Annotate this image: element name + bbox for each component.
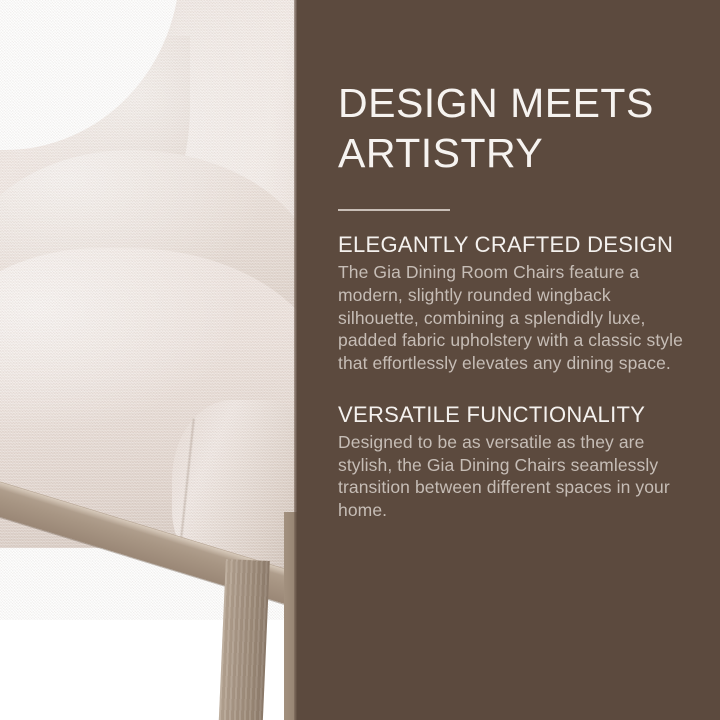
section-body-elegantly-crafted-design: The Gia Dining Room Chairs feature a mod… [338, 261, 690, 375]
copy-panel: DESIGN MEETS ARTISTRY ELEGANTLY CRAFTED … [297, 0, 720, 720]
chair-front-leg [218, 559, 270, 720]
headline: DESIGN MEETS ARTISTRY [338, 0, 690, 179]
section-heading-elegantly-crafted-design: ELEGANTLY CRAFTED DESIGN [338, 231, 690, 259]
section-heading-versatile-functionality: VERSATILE FUNCTIONALITY [338, 401, 690, 429]
promotional-graphic: DESIGN MEETS ARTISTRY ELEGANTLY CRAFTED … [0, 0, 720, 720]
section-body-versatile-functionality: Designed to be as versatile as they are … [338, 431, 690, 522]
section-spacer [338, 375, 690, 401]
product-photo [0, 0, 297, 720]
heading-rule [338, 209, 450, 211]
